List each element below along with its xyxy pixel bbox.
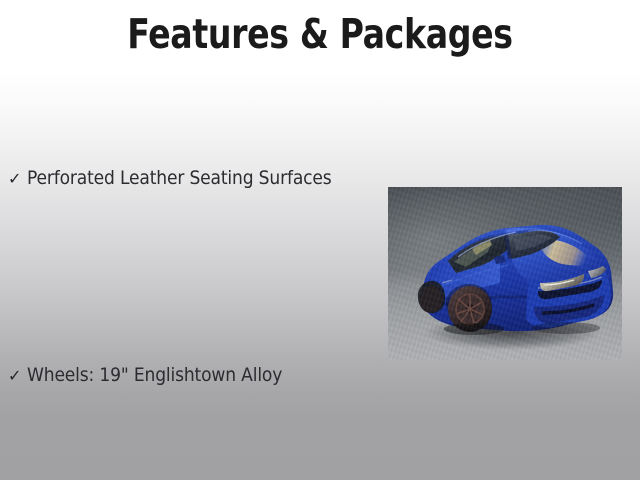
page-title: Features & Packages <box>32 11 608 57</box>
feature-list-item: ✓ Wheels: 19" Englishtown Alloy <box>8 363 282 388</box>
feature-label: Perforated Leather Seating Surfaces <box>27 166 332 190</box>
feature-label: Wheels: 19" Englishtown Alloy <box>27 363 282 387</box>
slide-canvas: Features & Packages ✓ Perforated Leather… <box>0 0 640 480</box>
photo-grain <box>388 187 622 360</box>
vehicle-photo <box>388 187 622 360</box>
check-icon: ✓ <box>8 364 27 388</box>
check-icon: ✓ <box>8 167 27 191</box>
feature-list-item: ✓ Perforated Leather Seating Surfaces <box>8 166 332 191</box>
